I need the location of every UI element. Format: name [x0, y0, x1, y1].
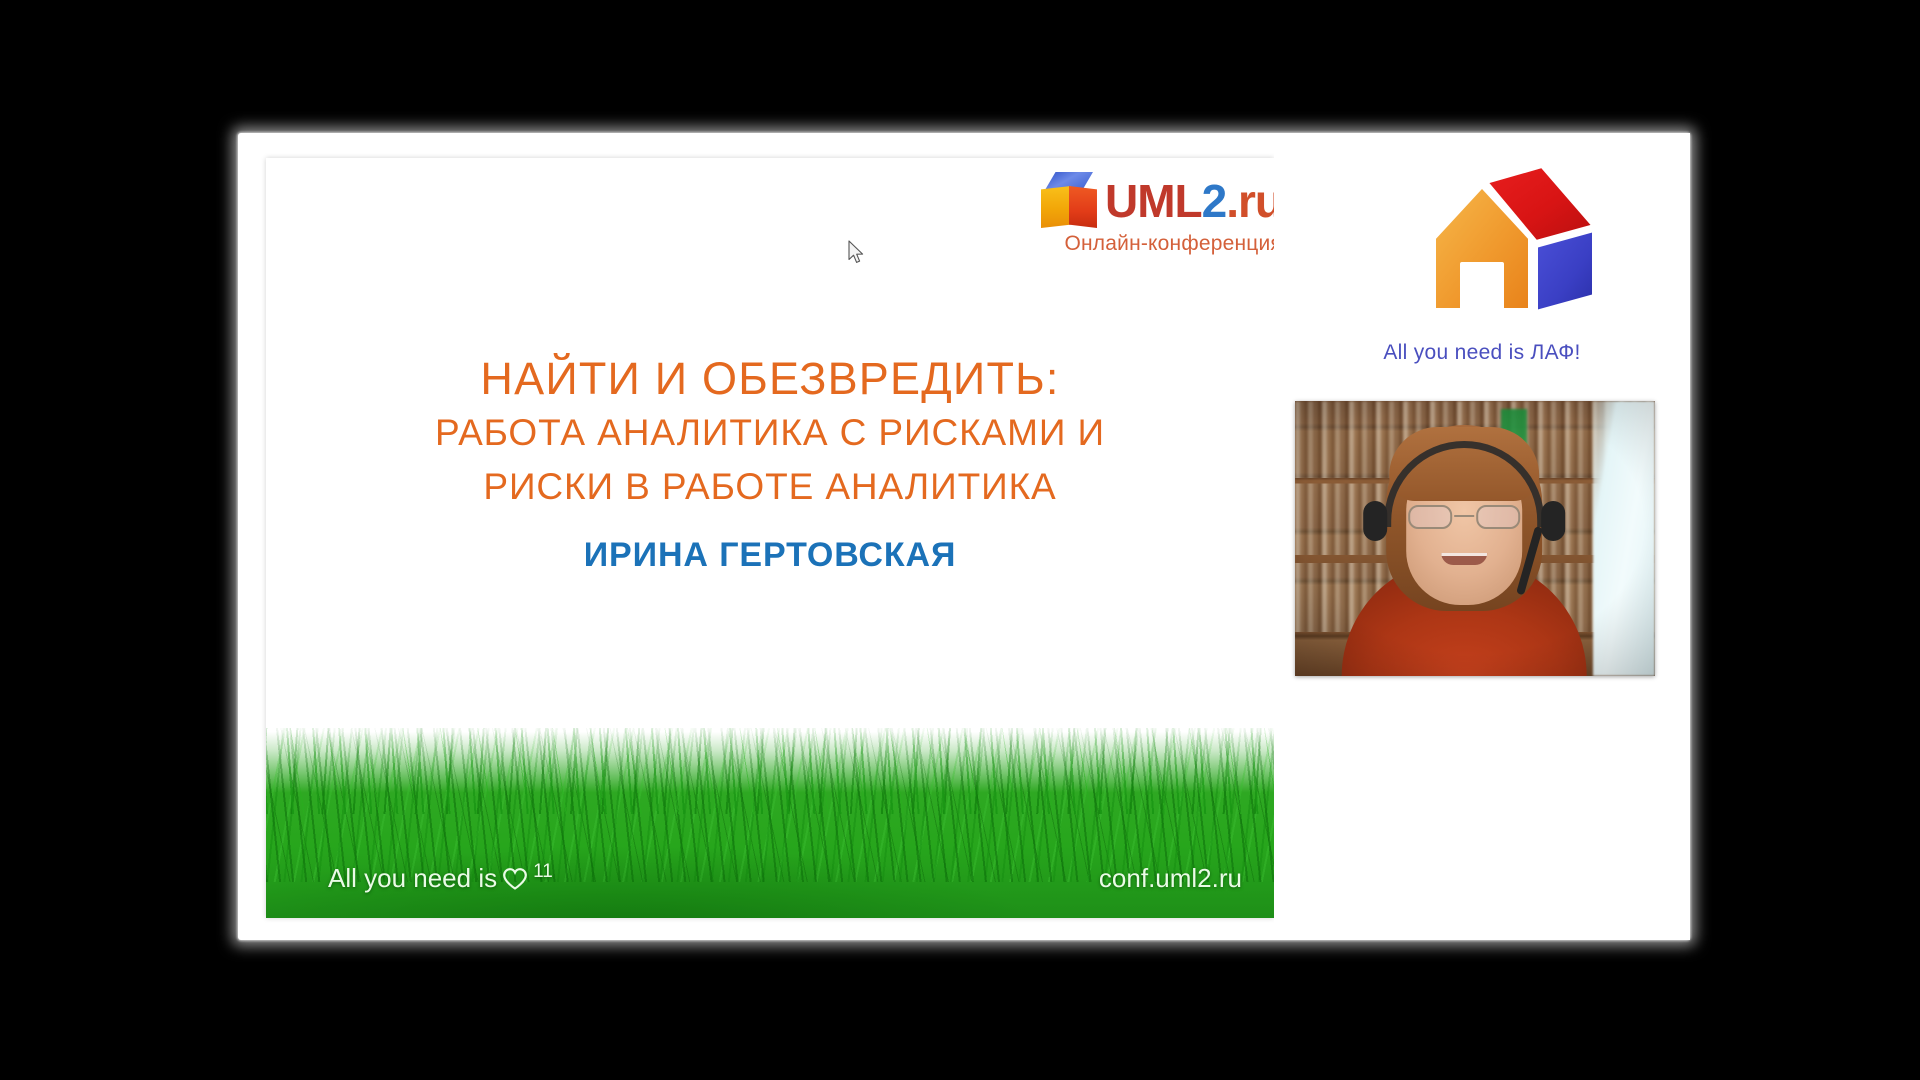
- logo-text-2: 2: [1202, 175, 1227, 227]
- brand-logo: [1274, 155, 1690, 335]
- logo-text-ru: .ru: [1226, 175, 1274, 227]
- conference-logo: UML2.ru Онлайн-конференция: [992, 172, 1274, 256]
- slide-title-line2: РАБОТА АНАЛИТИКА С РИСКАМИ И: [292, 408, 1248, 457]
- slide-footer-url: conf.uml2.ru: [1099, 863, 1242, 894]
- arrow-cursor-icon: [848, 240, 866, 266]
- slide-title-line3: РИСКИ В РАБОТЕ АНАЛИТИКА: [292, 462, 1248, 511]
- grass-decoration: All you need is 11 conf.uml2.ru: [266, 728, 1274, 918]
- footer-tagline-text: All you need is: [328, 863, 497, 894]
- logo-text-uml: UML: [1105, 175, 1202, 227]
- conference-logo-text: UML2.ru: [1105, 178, 1274, 224]
- slide-speaker-name: ИРИНА ГЕРТОВСКАЯ: [266, 536, 1274, 575]
- slide-footer-tagline: All you need is 11: [328, 863, 553, 894]
- slide-title-block: НАЙТИ И ОБЕЗВРЕДИТЬ: РАБОТА АНАЛИТИКА С …: [266, 354, 1274, 511]
- conference-logo-subtitle: Онлайн-конференция: [992, 232, 1274, 256]
- presentation-slide[interactable]: UML2.ru Онлайн-конференция НАЙТИ И ОБЕЗВ…: [266, 158, 1274, 918]
- uml2-cube-icon: [1039, 172, 1099, 230]
- heart-outline-icon: [502, 867, 528, 891]
- slide-title-main: НАЙТИ И ОБЕЗВРЕДИТЬ:: [292, 354, 1248, 404]
- speaker-video-tile[interactable]: [1295, 401, 1655, 676]
- house-logo-icon: [1366, 160, 1598, 330]
- sidebar: All you need is ЛАФ!: [1274, 133, 1690, 940]
- heart-count: 11: [533, 861, 553, 883]
- brand-tagline: All you need is ЛАФ!: [1274, 341, 1690, 365]
- screen-stage: UML2.ru Онлайн-конференция НАЙТИ И ОБЕЗВ…: [0, 0, 1920, 1080]
